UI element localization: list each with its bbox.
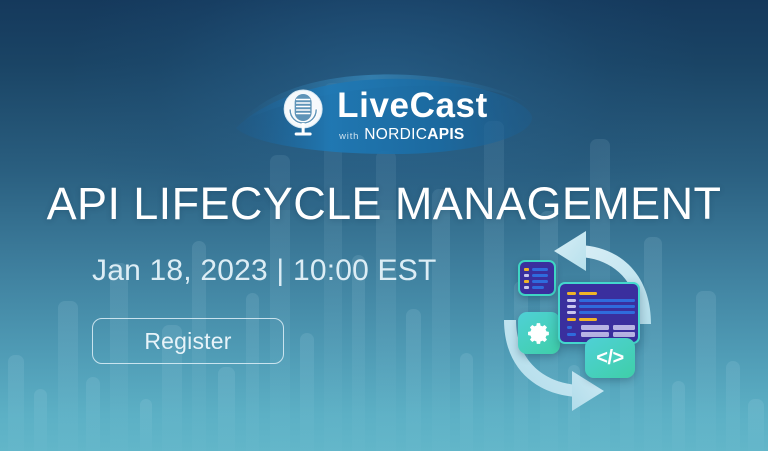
logo-brand-name: NORDICAPIS (364, 127, 464, 143)
logo-row: LiveCast with NORDICAPIS (280, 88, 488, 143)
list-icon (518, 260, 556, 296)
register-button[interactable]: Register (92, 318, 284, 364)
equalizer-bar (246, 293, 259, 451)
microphone-icon (280, 88, 326, 143)
logo-with-word: with (339, 131, 359, 142)
livecast-logo: LiveCast with NORDICAPIS (0, 72, 768, 156)
logo-wordmark: LiveCast with NORDICAPIS (337, 88, 488, 143)
equalizer-bar (460, 353, 473, 451)
event-datetime: Jan 18, 2023 | 10:00 EST (92, 256, 437, 286)
gear-icon (518, 312, 560, 354)
equalizer-bar (406, 309, 421, 451)
livecast-promo-banner: LiveCast with NORDICAPIS API LIFECYCLE M… (0, 0, 768, 451)
equalizer-bar (58, 301, 78, 451)
equalizer-bar (140, 399, 152, 451)
logo-title: LiveCast (337, 88, 488, 123)
code-brackets-icon: </> (585, 338, 635, 378)
equalizer-bar (748, 399, 764, 451)
equalizer-bar (696, 291, 716, 451)
page-title: API LIFECYCLE MANAGEMENT (0, 181, 768, 226)
equalizer-bar (86, 377, 100, 451)
logo-brand-apis: APIS (427, 126, 464, 143)
equalizer-bar (726, 361, 740, 451)
api-lifecycle-illustration: </> (488, 228, 678, 414)
logo-subtitle: with NORDICAPIS (339, 127, 464, 143)
logo-brand-nordic: NORDIC (364, 126, 427, 143)
equalizer-bar (218, 367, 235, 451)
equalizer-bar (8, 355, 24, 451)
code-editor-window (558, 282, 640, 344)
equalizer-bar (300, 333, 314, 451)
lifecycle-tiles: </> (488, 228, 678, 414)
equalizer-bar (34, 389, 47, 451)
